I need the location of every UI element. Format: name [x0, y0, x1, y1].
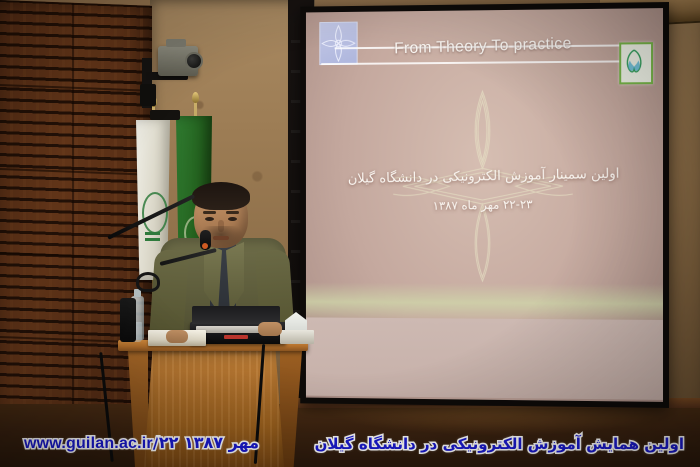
floor-light-glow — [320, 406, 680, 436]
speaker-eyebrow-left — [203, 211, 216, 214]
laptop-trackpoint — [224, 335, 248, 339]
screen-surface: From Theory To practice اولین سمینار آمو… — [306, 8, 663, 402]
header-rule-bottom — [321, 60, 649, 65]
conference-photo: From Theory To practice اولین سمینار آمو… — [0, 0, 700, 467]
speaker-eye-right — [228, 217, 237, 221]
screen-lower-area — [306, 317, 663, 400]
microphone-base — [120, 298, 136, 342]
slide-subtitle-line-1: اولین سمینار آموزش الکترونیکی در دانشگاه… — [306, 165, 663, 188]
microphone-indicator-light — [202, 243, 208, 249]
website-url: www.guilan.ac.ir — [24, 435, 153, 452]
wall-mounted-spotlight — [158, 46, 198, 76]
speaker-eye-left — [205, 217, 214, 221]
slide-header: From Theory To practice — [306, 14, 663, 75]
microphone-capsule — [200, 230, 211, 250]
speaker-hand-right — [258, 322, 282, 336]
caption-right: اولین همایش آموزش الکترونیکی در دانشگاه … — [315, 435, 684, 453]
speaker-hair — [192, 182, 250, 210]
caption-date: ۲۲ مهر ۱۳۸۷ — [159, 433, 259, 452]
spotlight-lens — [185, 52, 203, 70]
caption-left: www.guilan.ac.ir/۲۲ مهر ۱۳۸۷ — [24, 433, 259, 453]
spotlight-control-box — [140, 84, 156, 106]
spotlight-top-housing — [166, 39, 186, 47]
ribbon-diamond-motif — [389, 87, 576, 286]
flag-finial-green — [192, 92, 199, 103]
speaker-eyebrow-right — [226, 211, 239, 214]
spotlight-lower-arm — [150, 110, 180, 120]
slide-title: From Theory To practice — [306, 33, 663, 61]
papers-stack — [280, 330, 314, 344]
speaker-hand-left — [166, 330, 188, 343]
guilan-university-logo — [619, 42, 653, 84]
projection-screen: From Theory To practice اولین سمینار آمو… — [300, 2, 669, 408]
microphone-clamp — [136, 272, 160, 292]
speaker-mouth — [213, 236, 229, 240]
